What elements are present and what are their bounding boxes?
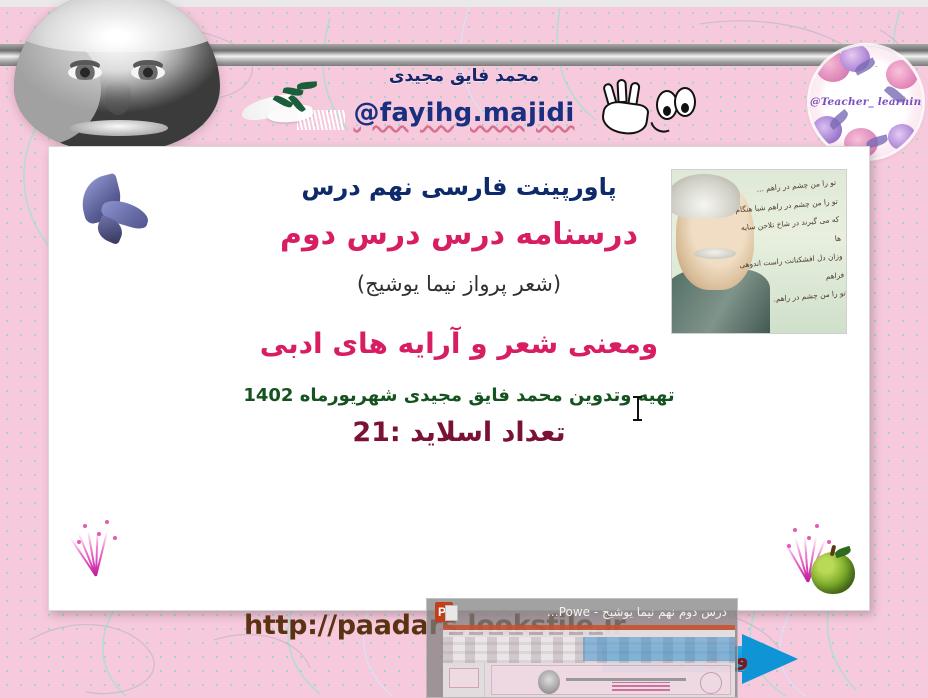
slide-topic-line: ومعنی شعر و آرایه های ادبی — [49, 327, 869, 360]
author-name-heading: محمد فایق مجیدی — [0, 66, 928, 86]
preview-header: درس دوم نهم نیما یوشیج - Powe… — [427, 599, 737, 625]
text-cursor — [633, 396, 642, 421]
powerpoint-icon — [435, 602, 453, 622]
social-handle-heading: @fayihg.majidi — [0, 98, 928, 128]
preview-window-title: درس دوم نهم نیما یوشیج - Powe… — [459, 605, 729, 619]
firework-decoration-left — [71, 518, 123, 576]
preview-thumbnail[interactable] — [443, 625, 735, 697]
taskbar-window-preview[interactable]: درس دوم نهم نیما یوشیج - Powe… — [426, 598, 738, 698]
slide-count-line: تعداد اسلاید :21 — [49, 417, 869, 448]
slide-title-line-1: پاورپینت فارسی نهم درس — [49, 173, 869, 201]
presentation-slide[interactable]: تو را من چشم در راهم ... تو را من چشم در… — [48, 146, 870, 611]
green-apple-image — [811, 552, 855, 594]
dove-with-olive-branch-icon — [245, 78, 355, 140]
slide-subtitle-poem-name: (شعر پرواز نیما یوشیج) — [49, 272, 869, 296]
slide-title-line-2: درسنامه درس درس دوم — [49, 217, 869, 252]
slide-author-credit: تهیه وتدوین محمد فایق مجیدی شهریورماه 14… — [49, 385, 869, 406]
cartoon-hand-and-eyes-icon — [596, 84, 700, 144]
